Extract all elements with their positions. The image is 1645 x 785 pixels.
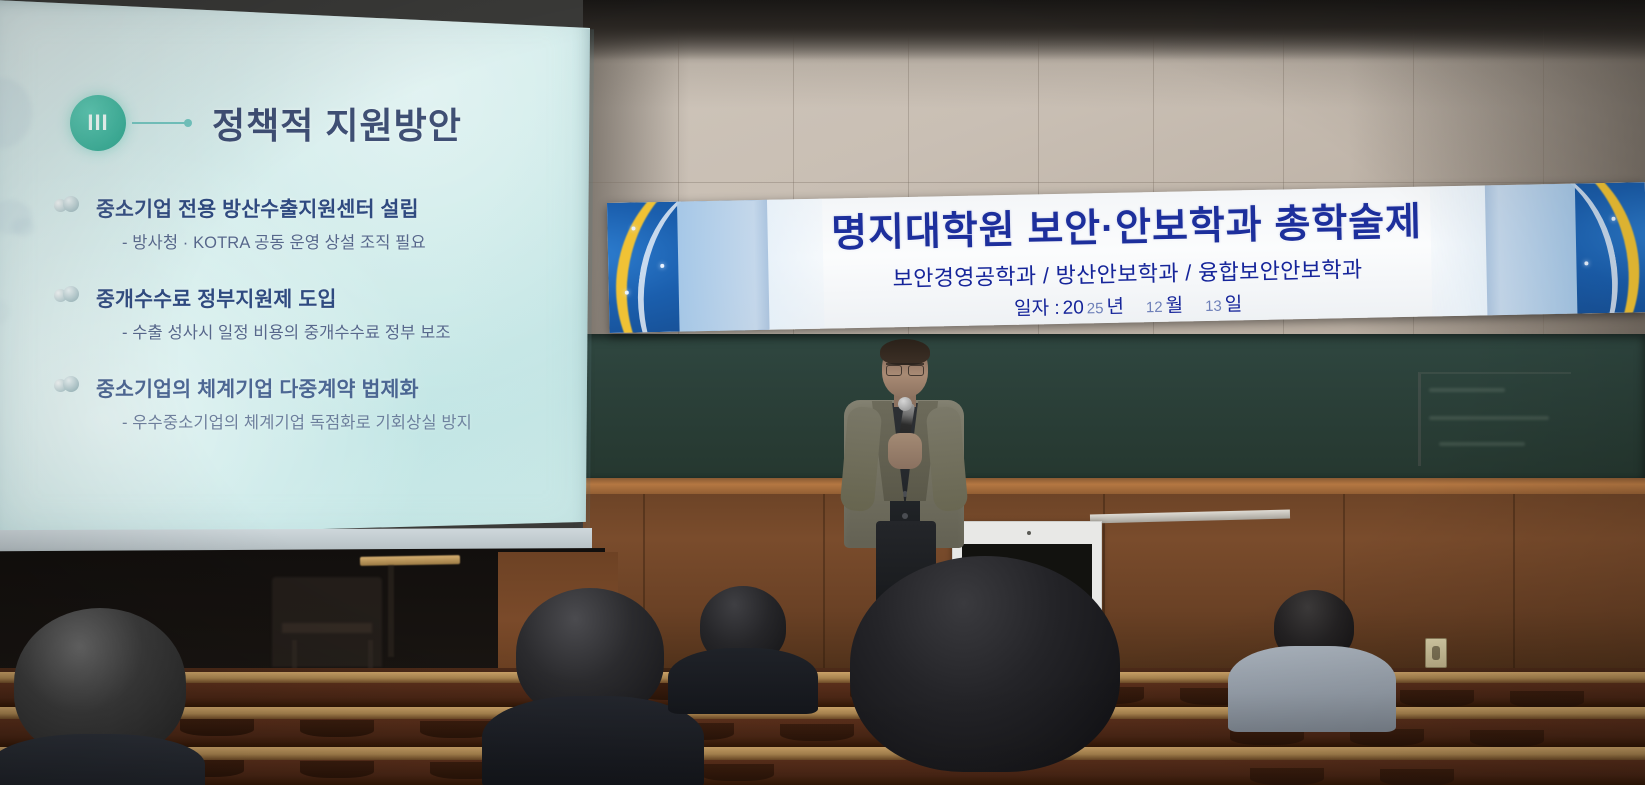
speaker-hands — [888, 433, 922, 469]
monitor-indicator — [1027, 531, 1031, 535]
audience-shoulders — [668, 648, 818, 714]
bullet-item: 중소기업의 체계기업 다중계약 법제화 - 우수중소기업의 체계기업 독점화로 … — [54, 372, 574, 433]
sphere-bullet-icon — [54, 196, 79, 217]
chalk-writing — [1418, 372, 1571, 466]
slide-bullets: 중소기업 전용 방산수출지원센터 설립 - 방사청 · KOTRA 공동 운영 … — [54, 192, 574, 462]
chapter-number-badge: III — [70, 95, 126, 151]
banner-title: 명지대학원 보안·안보학과 총학술제 — [831, 191, 1423, 259]
date-month: 12 — [1146, 299, 1163, 316]
audience-shoulders — [0, 734, 205, 785]
date-label: 일자 : — [1014, 293, 1060, 321]
chapter-connector-line — [132, 122, 190, 124]
date-year-unit: 년 — [1106, 292, 1124, 319]
slide-header: III 정책적 지원방안 — [70, 95, 462, 151]
lecture-hall-photo: 명지대학원 보안·안보학과 총학술제 보안경영공학과 / 방산안보학과 / 융합… — [0, 0, 1645, 785]
alcove-light-strip — [360, 555, 460, 566]
bullet-detail: - 우수중소기업의 체계기업 독점화로 기회상실 방지 — [122, 409, 574, 433]
bullet-heading: 중개수수료 정부지원제 도입 — [96, 282, 574, 312]
audience-member-front-center — [820, 556, 1150, 785]
date-day: 13 — [1205, 298, 1222, 315]
banner-date: 일자 : 2025년 12월 13일 — [1014, 289, 1243, 321]
sphere-bullet-icon — [54, 286, 79, 307]
banner-departments: 보안경영공학과 / 방산안보학과 / 융합보안안보학과 — [892, 252, 1362, 293]
wall-outlet-right — [1425, 638, 1447, 668]
event-banner: 명지대학원 보안·안보학과 총학술제 보안경영공학과 / 방산안보학과 / 융합… — [607, 182, 1645, 333]
date-day-unit: 일 — [1224, 289, 1242, 316]
sphere-bullet-icon — [54, 376, 79, 397]
stacked-chair — [272, 577, 382, 667]
audience-member-front-left — [0, 608, 200, 785]
audience-member-center-left — [498, 588, 683, 785]
eyeglasses-icon — [886, 363, 924, 374]
projection-screen-area: III 정책적 지원방안 중소기업 전용 방산수출지원센터 설립 - 방사청 ·… — [0, 0, 594, 565]
alcove-post — [388, 565, 394, 657]
date-year-suffix: 25 — [1087, 300, 1104, 317]
speaker-hair — [880, 339, 930, 365]
audience-member-right — [1228, 590, 1398, 730]
bullet-detail: - 방사청 · KOTRA 공동 운영 상설 조직 필요 — [122, 229, 574, 253]
date-year-prefix: 20 — [1062, 297, 1084, 319]
audience-member-mid-left — [668, 586, 818, 711]
bullet-heading: 중소기업의 체계기업 다중계약 법제화 — [96, 372, 574, 402]
ceiling-shadow — [583, 0, 1645, 60]
audience-head — [850, 556, 1120, 772]
bullet-item: 중소기업 전용 방산수출지원센터 설립 - 방사청 · KOTRA 공동 운영 … — [54, 192, 574, 253]
date-month-unit: 월 — [1165, 290, 1183, 317]
projected-slide: III 정책적 지원방안 중소기업 전용 방산수출지원센터 설립 - 방사청 ·… — [0, 0, 590, 538]
audience-shoulders — [1228, 646, 1396, 732]
bullet-item: 중개수수료 정부지원제 도입 - 수출 성사시 일정 비용의 중개수수료 정부 … — [54, 282, 574, 343]
slide-title: 정책적 지원방안 — [212, 97, 462, 149]
bullet-heading: 중소기업 전용 방산수출지원센터 설립 — [96, 192, 574, 222]
bullet-detail: - 수출 성사시 일정 비용의 중개수수료 정부 보조 — [122, 319, 574, 343]
